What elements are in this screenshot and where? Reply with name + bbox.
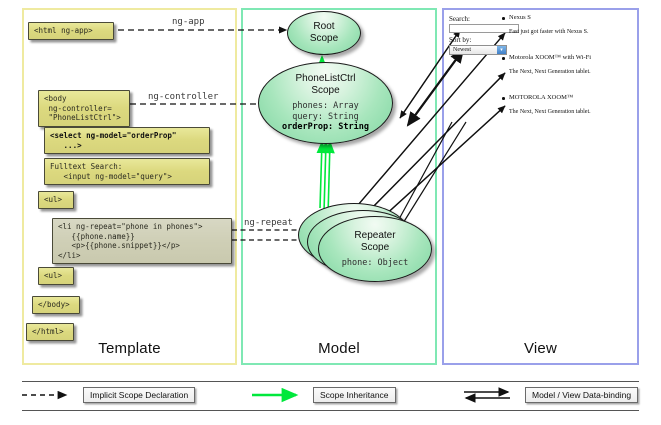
- code-box-html-close: </html>: [26, 323, 74, 341]
- phone-name: MOTOROLA XOOM™: [509, 94, 633, 102]
- bullet-icon: [502, 17, 505, 20]
- dashed-arrow-icon: [22, 387, 78, 403]
- legend-label-implicit-scope-declaration: Implicit Scope Declaration: [83, 387, 195, 403]
- scope-root: Root Scope: [287, 11, 361, 55]
- legend-label-model-view-data-binding: Model / View Data-binding: [525, 387, 638, 403]
- code-box-body-ng-controller: <body ng-controller= "PhoneListCtrl">: [38, 90, 130, 127]
- scope-repeater: Repeater Scope phone: Object: [318, 216, 432, 282]
- legend-divider-top: [22, 381, 639, 382]
- list-item[interactable]: MOTOROLA XOOM™ The Next, Next Generation…: [509, 94, 633, 116]
- list-item[interactable]: Motorola XOOM™ with Wi-Fi The Next, Next…: [509, 54, 633, 76]
- edge-label-ng-controller: ng-controller: [148, 92, 218, 102]
- diagram-canvas: Template Model View: [0, 0, 661, 425]
- panel-view-label: View: [444, 340, 637, 357]
- phone-snippet: The Next, Next Generation tablet.: [509, 68, 633, 76]
- sort-by-label: Sort by:: [449, 36, 471, 44]
- scope-phonelistctrl-title: PhoneListCtrl Scope: [295, 73, 355, 97]
- legend-item-scope-inheritance: Scope Inheritance: [252, 387, 396, 403]
- double-arrow-icon: [464, 387, 520, 403]
- legend-divider-bottom: [22, 410, 639, 411]
- code-box-fulltext-search: Fulltext Search: <input ng-model="query"…: [44, 158, 210, 185]
- scope-repeater-props: phone: Object: [342, 258, 409, 269]
- sort-by-selected-value: Newest: [450, 47, 497, 53]
- legend: Implicit Scope Declaration Scope Inherit…: [22, 381, 639, 411]
- legend-label-scope-inheritance: Scope Inheritance: [313, 387, 396, 403]
- code-box-select-ng-model: <select ng-model="orderProp" ...>: [44, 127, 210, 154]
- list-item[interactable]: Nexus S Fast just got faster with Nexus …: [509, 14, 633, 36]
- prop-query: query: String: [282, 112, 369, 123]
- panel-model-label: Model: [243, 340, 435, 357]
- legend-item-implicit-scope-declaration: Implicit Scope Declaration: [22, 387, 195, 403]
- phone-snippet: The Next, Next Generation tablet.: [509, 108, 633, 116]
- scope-root-title: Root Scope: [310, 21, 338, 45]
- panel-model: Model: [241, 8, 437, 365]
- search-label: Search:: [449, 15, 470, 23]
- code-box-ul-close: <ul>: [38, 267, 74, 285]
- chevron-updown-icon: ▾: [497, 46, 506, 54]
- phone-name: Nexus S: [509, 14, 633, 22]
- sort-by-select[interactable]: Newest ▾: [449, 45, 507, 55]
- code-box-html-ng-app: <html ng-app>: [28, 22, 114, 40]
- phone-snippet: Fast just got faster with Nexus S.: [509, 28, 633, 36]
- code-box-li-ng-repeat: <li ng-repeat="phone in phones"> {{phone…: [52, 218, 232, 264]
- bullet-icon: [502, 57, 505, 60]
- panel-template-label: Template: [24, 340, 235, 357]
- bullet-icon: [502, 97, 505, 100]
- edge-label-ng-app: ng-app: [172, 17, 205, 27]
- scope-phonelistctrl-props: phones: Array query: String orderProp: S…: [282, 101, 369, 133]
- phone-name: Motorola XOOM™ with Wi-Fi: [509, 54, 633, 62]
- code-box-ul-open: <ul>: [38, 191, 74, 209]
- solid-arrow-icon: [252, 387, 308, 403]
- prop-orderprop: orderProp: String: [282, 122, 369, 133]
- scope-phonelistctrl: PhoneListCtrl Scope phones: Array query:…: [258, 62, 393, 144]
- edge-label-ng-repeat: ng-repeat: [244, 218, 293, 228]
- legend-item-model-view-data-binding: Model / View Data-binding: [464, 387, 638, 403]
- view-browser-mock: Search: Sort by: Newest ▾ Nexus S Fast j…: [449, 14, 633, 124]
- scope-repeater-title: Repeater Scope: [354, 230, 395, 254]
- code-box-body-close: </body>: [32, 296, 80, 314]
- prop-phones: phones: Array: [282, 101, 369, 112]
